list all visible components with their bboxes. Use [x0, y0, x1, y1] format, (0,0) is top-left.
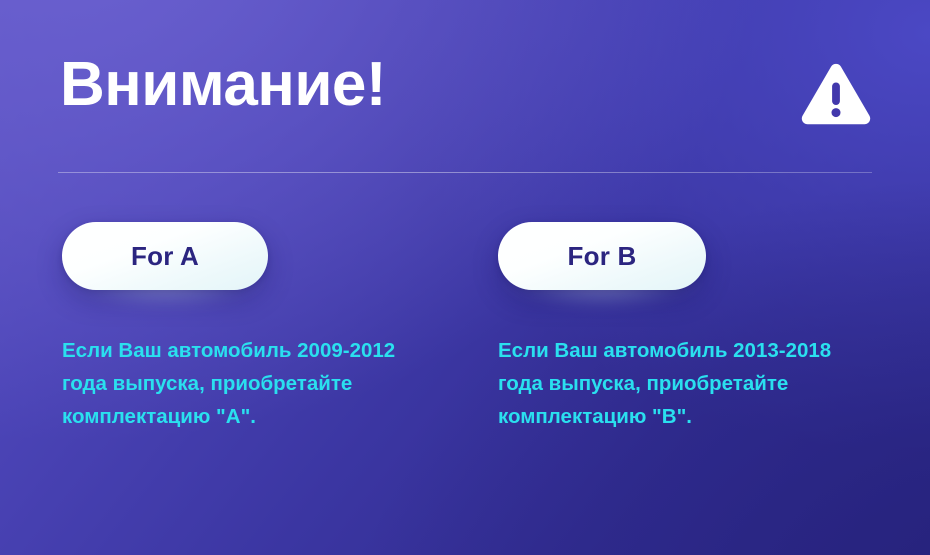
option-column-for-a: For A Если Ваш автомобиль 2009-2012 года… [62, 222, 482, 434]
description-line: Если Ваш автомобиль 2009-2012 [62, 334, 447, 367]
for-b-button-wrap: For B [498, 222, 706, 290]
option-column-for-b: For B Если Ваш автомобиль 2013-2018 года… [498, 222, 918, 434]
for-a-button-label: For A [131, 243, 199, 269]
for-a-description: Если Ваш автомобиль 2009-2012 года выпус… [62, 334, 447, 434]
for-b-button-label: For B [568, 243, 637, 269]
description-line: года выпуска, приобретайте [498, 367, 883, 400]
description-line: Если Ваш автомобиль 2013-2018 [498, 334, 883, 367]
for-a-button-wrap: For A [62, 222, 268, 290]
description-line: комплектацию "А". [62, 400, 447, 433]
description-line: комплектацию "В". [498, 400, 883, 433]
for-b-button[interactable]: For B [498, 222, 706, 290]
page-title: Внимание! [60, 52, 386, 118]
for-a-button[interactable]: For A [62, 222, 268, 290]
attention-banner: Внимание! For A Если Ваш автомобиль 2009… [0, 0, 930, 555]
divider [58, 172, 872, 173]
warning-triangle-icon [800, 62, 872, 128]
description-line: года выпуска, приобретайте [62, 367, 447, 400]
for-b-description: Если Ваш автомобиль 2013-2018 года выпус… [498, 334, 883, 434]
